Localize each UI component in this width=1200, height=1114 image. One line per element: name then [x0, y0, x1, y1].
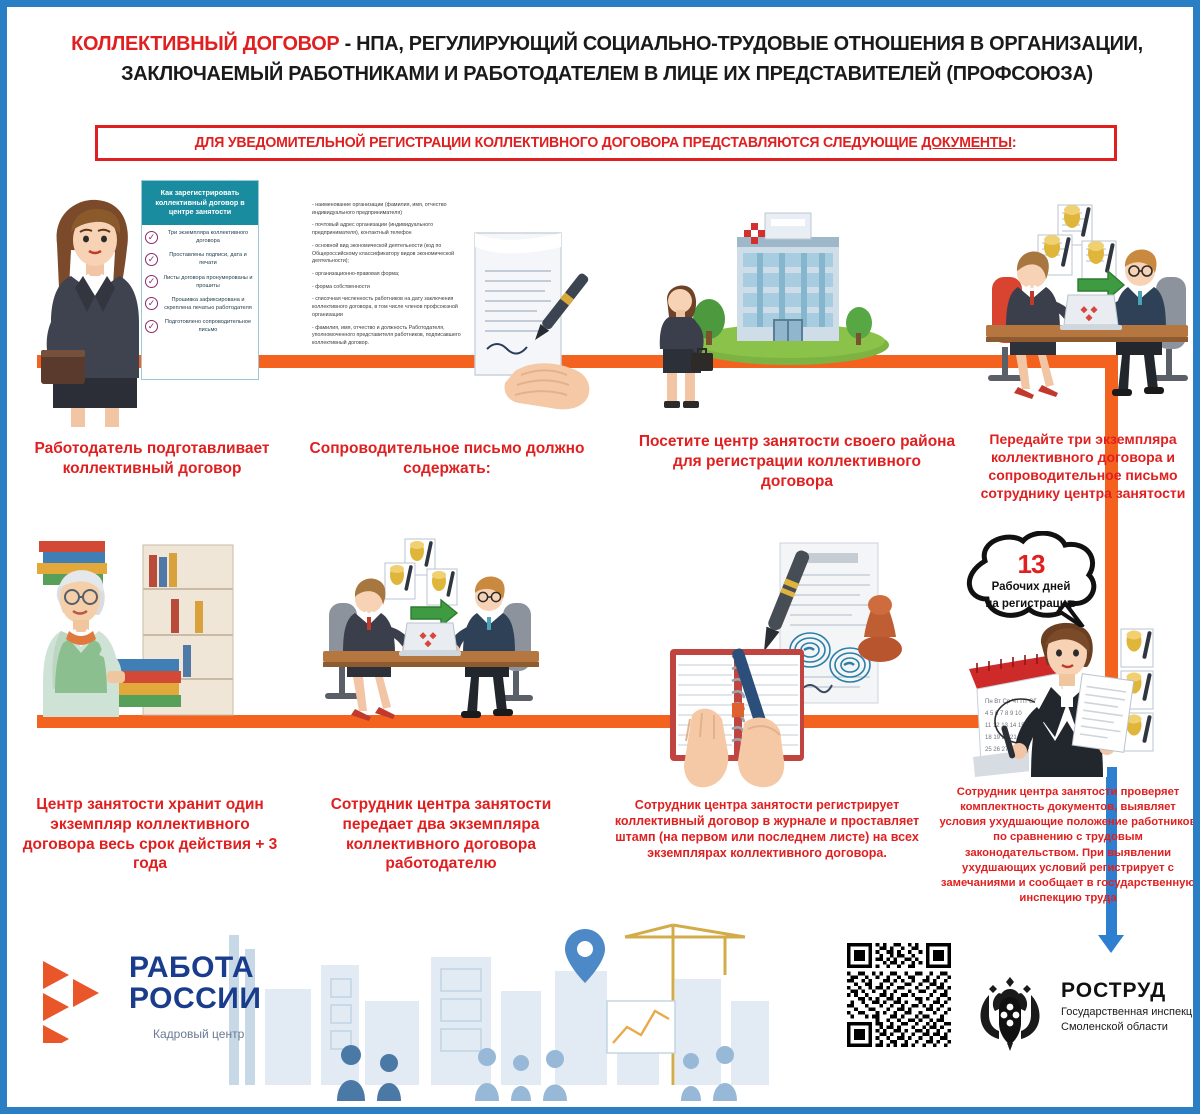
step-2-caption: Сопроводительное письмо должно содержать… [307, 439, 587, 479]
rabota-rossii-mark-icon [43, 957, 121, 1043]
walking-woman-illustration [647, 279, 717, 411]
documents-banner-prefix: ДЛЯ УВЕДОМИТЕЛЬНОЙ РЕГИСТРАЦИИ КОЛЛЕКТИВ… [195, 135, 922, 151]
requirement-item: - форма собственности [312, 284, 472, 292]
checklist-title: Как зарегистрировать коллективный догово… [142, 181, 258, 225]
step-6-caption: Сотрудник центра занятости передает два … [307, 795, 575, 874]
scene-archivist-with-books [25, 527, 245, 722]
documents-banner-suffix: : [1012, 135, 1017, 151]
speech-bubble-13-days: 13 Рабочих дней на регистрацию [955, 531, 1107, 627]
double-headed-eagle-icon [969, 973, 1051, 1051]
requirement-item: - организационно-правовая форма; [312, 271, 472, 279]
scene-journal-and-stamp [632, 537, 922, 797]
rostrud-subtitle: Государственная инспекция труда в Смолен… [1061, 1005, 1200, 1035]
desk-return-illustration [307, 537, 557, 727]
rabota-rossii-wordmark: РАБОТА РОССИИ [129, 953, 261, 1014]
desk-handover-illustration [972, 199, 1200, 425]
step-5-caption: Центр занятости хранит один экземпляр ко… [15, 795, 285, 874]
flow-arrow-head [1098, 935, 1124, 953]
scene-businesswoman-with-folder [35, 192, 155, 427]
step-4-caption: Передайте три экземпляра коллективного д… [959, 431, 1200, 503]
header-highlight: КОЛЛЕКТИВНЫЙ ДОГОВОР [71, 32, 339, 55]
checklist-item: ✓ Три экземпляра коллективного договора [145, 229, 255, 245]
header-line-2: ЗАКЛЮЧАЕМЫЙ РАБОТНИКАМИ И РАБОТОДАТЕЛЕМ … [25, 59, 1189, 89]
step-3-caption: Посетите центр занятости своего района д… [637, 432, 957, 491]
requirement-item: - основной вид экономической деятельност… [312, 243, 472, 266]
step-8-caption: Сотрудник центра занятости проверяет ком… [937, 785, 1199, 906]
scene-walking-woman [647, 279, 717, 411]
check-mark-icon: ✓ [145, 275, 158, 288]
checklist-item-label: Три экземпляра коллективного договора [161, 229, 255, 245]
sopr-letter-requirements: - наименование организации (фамилия, имя… [312, 202, 472, 353]
checklist-item-label: Прошивка зафиксирована и скреплена печат… [161, 296, 255, 312]
requirement-item: - наименование организации (фамилия, имя… [312, 202, 472, 217]
infographic-poster: КОЛЛЕКТИВНЫЙ ДОГОВОР - НПА, РЕГУЛИРУЮЩИЙ… [0, 0, 1200, 1114]
journal-stamp-illustration [632, 537, 922, 797]
check-mark-icon: ✓ [145, 253, 158, 266]
inspector-illustration: Пн Вт Ср Чт Пт Сб Вс 4 5 6 7 8 9 10 11 1… [955, 617, 1200, 802]
rabota-rossii-line2: РОССИИ [129, 984, 261, 1015]
checklist-item-label: Листы договора пронумерованы и прошиты [161, 274, 255, 290]
step-7-caption: Сотрудник центра занятости регистрирует … [602, 797, 932, 861]
scene-inspector-with-documents: Пн Вт Ср Чт Пт Сб Вс 4 5 6 7 8 9 10 11 1… [955, 617, 1200, 802]
step-1-caption: Работодатель подготавливает коллективный… [27, 439, 277, 479]
rabota-rossii-line1: РАБОТА [129, 953, 261, 984]
checklist-items: ✓ Три экземпляра коллективного договора … [142, 225, 258, 344]
scene-hand-signing-document [457, 225, 597, 415]
speech-bubble-line1: Рабочих дней [955, 581, 1107, 593]
speech-bubble-number: 13 [955, 549, 1107, 580]
speech-bubble-line2: на регистрацию [955, 598, 1107, 610]
documents-banner-text: ДЛЯ УВЕДОМИТЕЛЬНОЙ РЕГИСТРАЦИИ КОЛЛЕКТИВ… [195, 135, 1017, 151]
header-line-1: КОЛЛЕКТИВНЫЙ ДОГОВОР - НПА, РЕГУЛИРУЮЩИЙ… [25, 29, 1189, 59]
archivist-illustration [25, 527, 245, 722]
checklist-item: ✓ Подготовлено сопроводительное письмо [145, 318, 255, 334]
registration-checklist-card: Как зарегистрировать коллективный догово… [141, 180, 259, 380]
scene-desk-handover [972, 199, 1200, 425]
checklist-item-label: Подготовлено сопроводительное письмо [161, 318, 255, 334]
businesswoman-illustration [35, 192, 155, 427]
checklist-item: ✓ Проставлены подписи, дата и печати [145, 251, 255, 267]
check-mark-icon: ✓ [145, 297, 158, 310]
rostrud-title: РОСТРУД [1061, 979, 1166, 1003]
checklist-item: ✓ Листы договора пронумерованы и прошиты [145, 274, 255, 290]
rabota-rossii-subtitle: Кадровый центр [153, 1027, 244, 1041]
rabota-rossii-logo: РАБОТА РОССИИ Кадровый центр [43, 945, 343, 1055]
requirement-item: - почтовый адрес организации (индивидуал… [312, 222, 472, 237]
checklist-item: ✓ Прошивка зафиксирована и скреплена печ… [145, 296, 255, 312]
checklist-item-label: Проставлены подписи, дата и печати [161, 251, 255, 267]
check-mark-icon: ✓ [145, 231, 158, 244]
signing-hand-illustration [457, 225, 597, 415]
scene-desk-return [307, 537, 557, 727]
documents-banner: ДЛЯ УВЕДОМИТЕЛЬНОЙ РЕГИСТРАЦИИ КОЛЛЕКТИВ… [95, 125, 1117, 161]
requirement-item: - фамилия, имя, отчество и должность Раб… [312, 325, 472, 348]
poster-header: КОЛЛЕКТИВНЫЙ ДОГОВОР - НПА, РЕГУЛИРУЮЩИЙ… [7, 29, 1200, 89]
rostrud-logo: РОСТРУД Государственная инспекция труда … [967, 973, 1200, 1053]
documents-banner-underlined: ДОКУМЕНТЫ [922, 135, 1013, 151]
qr-code[interactable] [847, 943, 951, 1047]
svg-text:4 5 6 7 8 9 10: 4 5 6 7 8 9 10 [985, 711, 1022, 717]
header-rest: - НПА, РЕГУЛИРУЮЩИЙ СОЦИАЛЬНО-ТРУДОВЫЕ О… [339, 32, 1142, 55]
check-mark-icon: ✓ [145, 320, 158, 333]
requirement-item: - списочная численность работников на да… [312, 296, 472, 319]
